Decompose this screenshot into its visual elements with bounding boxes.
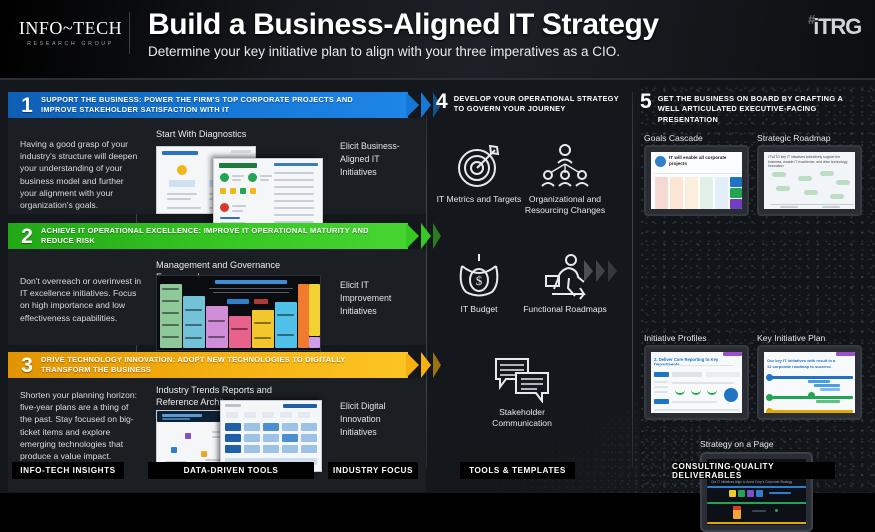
chevron-icon xyxy=(421,223,431,249)
infographic-body: 1 SUPPORT THE BUSINESS: POWER THE FIRM'S… xyxy=(0,80,875,493)
chevron-icon xyxy=(608,260,617,282)
row-3-elicit: Elicit Digital Innovation Initiatives xyxy=(340,400,410,438)
row-1-title: SUPPORT THE BUSINESS: POWER THE FIRM'S T… xyxy=(41,95,371,115)
tag-consulting-deliverables: CONSULTING-QUALITY DELIVERABLES xyxy=(672,462,835,479)
row-2-band: 2 ACHIEVE IT OPERATIONAL EXCELLENCE: IMP… xyxy=(8,223,408,249)
row-3-title: DRIVE TECHNOLOGY INNOVATION: ADOPT NEW T… xyxy=(41,355,371,375)
row-1-tool-title: Start With Diagnostics xyxy=(156,129,316,141)
row-3-number: 3 xyxy=(18,355,36,376)
tool-label: Functional Roadmaps xyxy=(522,304,608,315)
chevron-icon xyxy=(433,223,441,249)
thumb-heading: IT will enable all corporate projects xyxy=(669,155,731,168)
section-4-title: DEVELOP YOUR OPERATIONAL STRATEGY TO GOV… xyxy=(454,94,622,115)
section-4-head: 4 DEVELOP YOUR OPERATIONAL STRATEGY TO G… xyxy=(436,93,626,115)
chevron-icon xyxy=(406,92,419,118)
section-4-number: 4 xyxy=(436,93,448,112)
itrg-wordmark: iTRG xyxy=(813,14,861,40)
chevron-icon xyxy=(433,352,441,378)
chevron-icon xyxy=(421,352,431,378)
tool-label: IT Metrics and Targets xyxy=(436,194,522,205)
row-2-elicit: Elicit IT Improvement Initiatives xyxy=(340,279,410,317)
row-1-insight: Having a good grasp of your industry's s… xyxy=(20,138,142,211)
tag-info-tech-insights: INFO-TECH INSIGHTS xyxy=(12,462,124,479)
divider-3 xyxy=(426,116,427,468)
money-bag-icon: $ xyxy=(452,252,506,300)
label-initiative-profiles: Initiative Profiles xyxy=(644,333,707,343)
target-icon xyxy=(452,142,506,190)
tool-label: Organizational and Resourcing Changes xyxy=(522,194,608,216)
deliverable-key-initiative-plan[interactable]: Our key IT initiatives with result in a … xyxy=(757,345,862,420)
chevron-icon xyxy=(596,260,605,282)
row-2-title: ACHIEVE IT OPERATIONAL EXCELLENCE: IMPRO… xyxy=(41,226,371,246)
infographic-page: INFO~TECH RESEARCH GROUP Build a Busines… xyxy=(0,0,875,493)
svg-text:$: $ xyxy=(476,273,483,288)
chevron-icon xyxy=(584,260,593,282)
page-title: Build a Business-Aligned IT Strategy xyxy=(148,8,659,42)
row-2-thumb xyxy=(156,275,321,351)
tag-industry-focus: INDUSTRY FOCUS xyxy=(328,462,418,479)
tool-stakeholder-comm: Stakeholder Communication xyxy=(479,355,565,429)
row-1-number: 1 xyxy=(18,95,36,116)
deliverable-goals-cascade[interactable]: IT will enable all corporate projects xyxy=(644,145,749,216)
tool-label: Stakeholder Communication xyxy=(479,407,565,429)
divider-4 xyxy=(632,92,633,468)
tool-org-changes: Organizational and Resourcing Changes xyxy=(522,142,608,216)
tool-it-metrics: IT Metrics and Targets xyxy=(436,142,522,205)
deliverable-initiative-profiles[interactable]: 2. Deliver Core Reporting to Key Departm… xyxy=(644,345,749,420)
row-2-chevrons xyxy=(406,223,441,249)
chevron-icon xyxy=(406,352,419,378)
tool-label: IT Budget xyxy=(436,304,522,315)
tag-data-driven-tools: DATA-DRIVEN TOOLS xyxy=(148,462,314,479)
section-5-title: GET THE BUSINESS ON BOARD BY CRAFTING A … xyxy=(658,94,864,125)
row-1-thumb-front xyxy=(213,158,323,230)
tag-tools-templates: TOOLS & TEMPLATES xyxy=(460,462,575,479)
page-header: INFO~TECH RESEARCH GROUP Build a Busines… xyxy=(0,0,875,80)
info-tech-logo: INFO~TECH RESEARCH GROUP xyxy=(12,12,130,54)
row-2-number: 2 xyxy=(18,226,36,247)
section-5-number: 5 xyxy=(640,93,652,112)
thumb-subheading: Our IT Initiatives Align to Acme Corp's … xyxy=(711,480,793,484)
itrg-logo: # iTRG xyxy=(791,12,861,42)
label-strategy-on-a-page: Strategy on a Page xyxy=(700,439,774,449)
chevron-icon xyxy=(421,92,431,118)
row-1-elicit: Elicit Business-Aligned IT Initiatives xyxy=(340,140,410,178)
row-3-insight: Shorten your planning horizon: five-year… xyxy=(20,389,142,462)
speech-bubbles-icon xyxy=(492,355,552,403)
imperative-row-2: 2 ACHIEVE IT OPERATIONAL EXCELLENCE: IMP… xyxy=(8,223,426,345)
logo-wordmark: INFO~TECH xyxy=(19,19,122,37)
thumb-heading: Our key IT initiatives with result in a … xyxy=(767,358,837,369)
org-chart-icon xyxy=(538,142,592,190)
label-goals-cascade: Goals Cascade xyxy=(644,133,703,143)
deliverable-strategic-roadmap[interactable]: IT's/ITO key IT initiatives collectively… xyxy=(757,145,862,216)
imperative-row-1: 1 SUPPORT THE BUSINESS: POWER THE FIRM'S… xyxy=(8,92,426,214)
thumb-heading: IT's/ITO key IT initiatives collectively… xyxy=(768,155,850,169)
section-5-head: 5 GET THE BUSINESS ON BOARD BY CRAFTING … xyxy=(640,93,868,125)
chevron-icon xyxy=(406,223,419,249)
page-subtitle: Determine your key initiative plan to al… xyxy=(148,44,620,59)
row-3-chevrons xyxy=(406,352,441,378)
row-2-insight: Don't overreach or overinvest in IT exce… xyxy=(20,275,142,324)
tool-it-budget: $ IT Budget xyxy=(436,252,522,315)
row-3-band: 3 DRIVE TECHNOLOGY INNOVATION: ADOPT NEW… xyxy=(8,352,408,378)
section-4-chevrons xyxy=(584,260,617,282)
label-strategic-roadmap: Strategic Roadmap xyxy=(757,133,831,143)
logo-tagline: RESEARCH GROUP xyxy=(27,41,114,47)
label-key-initiative-plan: Key Initiative Plan xyxy=(757,333,825,343)
row-1-band: 1 SUPPORT THE BUSINESS: POWER THE FIRM'S… xyxy=(8,92,408,118)
